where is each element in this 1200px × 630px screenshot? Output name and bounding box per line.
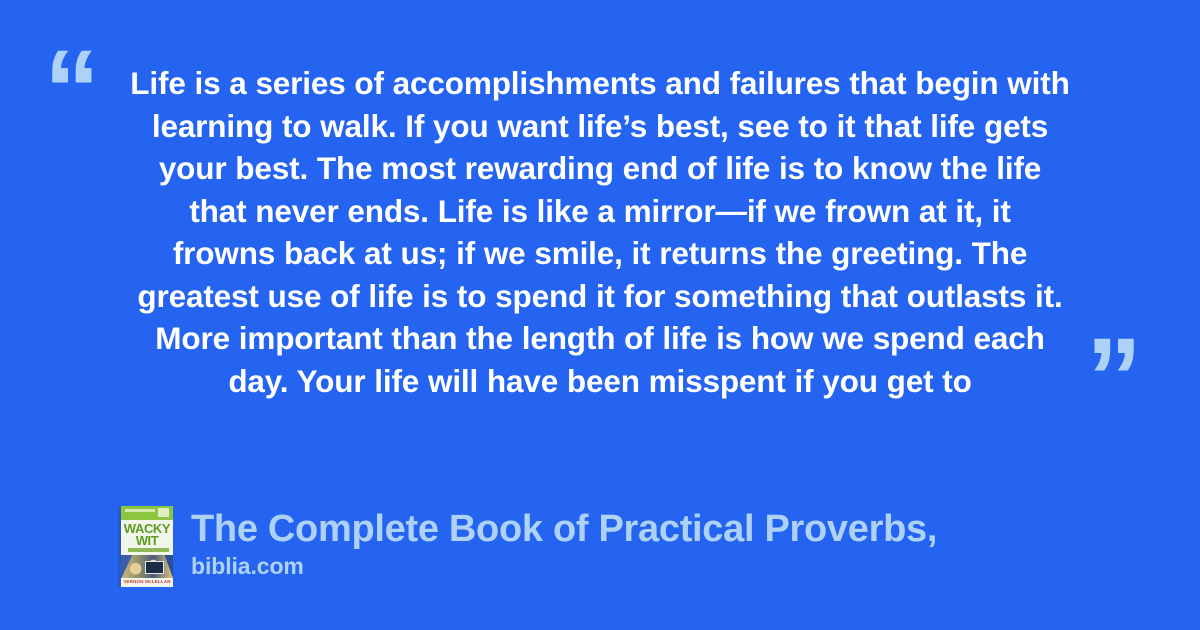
quote-line: day. Your life will have been misspent i… bbox=[118, 360, 1082, 403]
book-cover-band-badge bbox=[158, 508, 169, 517]
close-quote-icon: ” bbox=[1086, 322, 1142, 434]
book-cover-author: VERNON McLELLAN bbox=[121, 579, 173, 584]
quote-line: your best. The most rewarding end of lif… bbox=[118, 147, 1082, 190]
quote-block: Life is a series of accomplishments and … bbox=[0, 62, 1200, 402]
quote-line: greatest use of life is to spend it for … bbox=[118, 275, 1082, 318]
source-name: biblia.com bbox=[191, 552, 937, 580]
quote-line: More important than the length of life i… bbox=[118, 317, 1082, 360]
quote-line: that never ends. Life is like a mirror—i… bbox=[118, 190, 1082, 233]
quote-card: “ Life is a series of accomplishments an… bbox=[0, 0, 1200, 630]
book-cover-thumbnail: WACKY WIT VERNON McLELLAN bbox=[118, 506, 173, 587]
book-cover-subtitle-bar bbox=[128, 548, 169, 552]
book-cover-photo-frame bbox=[145, 561, 164, 574]
attribution: WACKY WIT VERNON McLELLAN The Complete B… bbox=[118, 506, 937, 587]
quote-line: frowns back at us; if we smile, it retur… bbox=[118, 232, 1082, 275]
book-title: The Complete Book of Practical Proverbs, bbox=[191, 507, 937, 552]
book-cover-photo-collage bbox=[121, 555, 173, 578]
book-cover-top-band bbox=[121, 506, 173, 520]
quote-text: Life is a series of accomplishments and … bbox=[118, 62, 1082, 402]
quote-line: learning to walk. If you want life’s bes… bbox=[118, 105, 1082, 148]
book-cover-title-line-2: WIT bbox=[121, 533, 173, 548]
attribution-text: The Complete Book of Practical Proverbs,… bbox=[191, 506, 937, 580]
book-cover-band-line bbox=[125, 509, 155, 512]
quote-line: Life is a series of accomplishments and … bbox=[118, 62, 1082, 105]
